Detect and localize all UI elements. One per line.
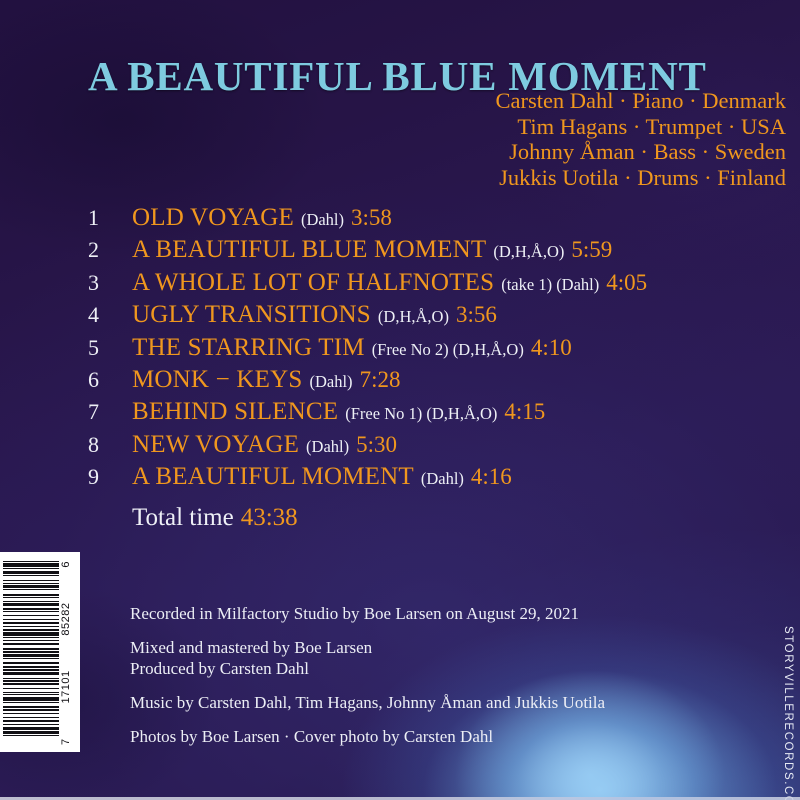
track-duration: 3:56 xyxy=(456,302,497,328)
track-row: 8 NEW VOYAGE (Dahl) 5:30 xyxy=(88,431,788,463)
track-duration: 5:59 xyxy=(571,237,612,263)
credit-block: Music by Carsten Dahl, Tim Hagans, Johnn… xyxy=(130,692,605,713)
track-title: MONK − KEYS xyxy=(132,366,302,394)
track-duration: 4:10 xyxy=(531,335,572,361)
track-duration: 3:58 xyxy=(351,205,392,231)
track-row: 3 A WHOLE LOT OF HALFNOTES (take 1) (Dah… xyxy=(88,269,788,301)
track-number: 6 xyxy=(88,367,132,393)
barcode-left-digit: 7 xyxy=(60,738,72,745)
track-credit: (Dahl) xyxy=(301,210,344,230)
track-credit: (D,H,Å,O) xyxy=(378,307,449,327)
track-credit: (Free No 2) (D,H,Å,O) xyxy=(372,340,524,360)
credit-line: Photos by Boe Larsen · Cover photo by Ca… xyxy=(130,726,605,747)
personnel-line: Tim Hagans · Trumpet · USA xyxy=(495,114,786,140)
track-title: THE STARRING TIM xyxy=(132,334,365,362)
credit-block: Photos by Boe Larsen · Cover photo by Ca… xyxy=(130,726,605,747)
total-time-label: Total time xyxy=(132,504,234,531)
track-credit: (take 1) (Dahl) xyxy=(501,275,599,295)
track-title: BEHIND SILENCE xyxy=(132,398,338,426)
track-number: 4 xyxy=(88,302,132,328)
track-number: 1 xyxy=(88,205,132,231)
credit-line: Music by Carsten Dahl, Tim Hagans, Johnn… xyxy=(130,692,605,713)
total-time: Total time43:38 xyxy=(132,504,298,532)
credit-block: Mixed and mastered by Boe Larsen Produce… xyxy=(130,637,605,679)
personnel-line: Jukkis Uotila · Drums · Finland xyxy=(495,165,786,191)
track-duration: 4:15 xyxy=(504,399,545,425)
track-listing: 1 OLD VOYAGE (Dahl) 3:58 2 A BEAUTIFUL B… xyxy=(88,204,788,496)
track-number: 2 xyxy=(88,237,132,263)
track-number: 9 xyxy=(88,464,132,490)
track-number: 8 xyxy=(88,432,132,458)
track-duration: 4:05 xyxy=(606,270,647,296)
personnel-line: Johnny Åman · Bass · Sweden xyxy=(495,139,786,165)
barcode-bars xyxy=(3,559,59,745)
track-credit: (Free No 1) (D,H,Å,O) xyxy=(345,404,497,424)
track-title: A BEAUTIFUL BLUE MOMENT xyxy=(132,236,486,264)
barcode-check-digit: 6 xyxy=(60,561,72,568)
track-credit: (Dahl) xyxy=(309,372,352,392)
track-title: OLD VOYAGE xyxy=(132,204,294,232)
track-credit: (Dahl) xyxy=(306,437,349,457)
track-title: NEW VOYAGE xyxy=(132,431,299,459)
barcode-group-two: 85282 xyxy=(60,603,72,636)
cd-back-cover: A BEAUTIFUL BLUE MOMENT Carsten Dahl · P… xyxy=(0,0,800,800)
barcode-digits: 7 17101 85282 6 xyxy=(59,559,72,745)
track-title: UGLY TRANSITIONS xyxy=(132,301,371,329)
track-row: 6 MONK − KEYS (Dahl) 7:28 xyxy=(88,366,788,398)
track-number: 7 xyxy=(88,399,132,425)
track-number: 3 xyxy=(88,270,132,296)
label-website: STORYVILLERECORDS.COM xyxy=(782,626,794,800)
credit-line: Recorded in Milfactory Studio by Boe Lar… xyxy=(130,603,605,624)
personnel-line: Carsten Dahl · Piano · Denmark xyxy=(495,88,786,114)
credit-block: Recorded in Milfactory Studio by Boe Lar… xyxy=(130,603,605,624)
barcode: 7 17101 85282 6 xyxy=(0,552,80,752)
track-credit: (Dahl) xyxy=(421,469,464,489)
track-row: 1 OLD VOYAGE (Dahl) 3:58 xyxy=(88,204,788,236)
track-title: A BEAUTIFUL MOMENT xyxy=(132,463,414,491)
track-number: 5 xyxy=(88,335,132,361)
barcode-group-one: 17101 xyxy=(60,670,72,703)
track-duration: 4:16 xyxy=(471,464,512,490)
credit-line: Produced by Carsten Dahl xyxy=(130,658,605,679)
track-duration: 7:28 xyxy=(360,367,401,393)
production-credits: Recorded in Milfactory Studio by Boe Lar… xyxy=(130,603,605,747)
track-row: 9 A BEAUTIFUL MOMENT (Dahl) 4:16 xyxy=(88,463,788,495)
personnel-credits: Carsten Dahl · Piano · Denmark Tim Hagan… xyxy=(495,88,786,190)
barcode-inner: 7 17101 85282 6 xyxy=(3,559,77,745)
track-row: 5 THE STARRING TIM (Free No 2) (D,H,Å,O)… xyxy=(88,334,788,366)
total-time-value: 43:38 xyxy=(241,504,298,531)
track-duration: 5:30 xyxy=(356,432,397,458)
credit-line: Mixed and mastered by Boe Larsen xyxy=(130,637,605,658)
track-row: 7 BEHIND SILENCE (Free No 1) (D,H,Å,O) 4… xyxy=(88,398,788,430)
track-title: A WHOLE LOT OF HALFNOTES xyxy=(132,269,494,297)
track-row: 2 A BEAUTIFUL BLUE MOMENT (D,H,Å,O) 5:59 xyxy=(88,236,788,268)
track-credit: (D,H,Å,O) xyxy=(493,242,564,262)
track-row: 4 UGLY TRANSITIONS (D,H,Å,O) 3:56 xyxy=(88,301,788,333)
